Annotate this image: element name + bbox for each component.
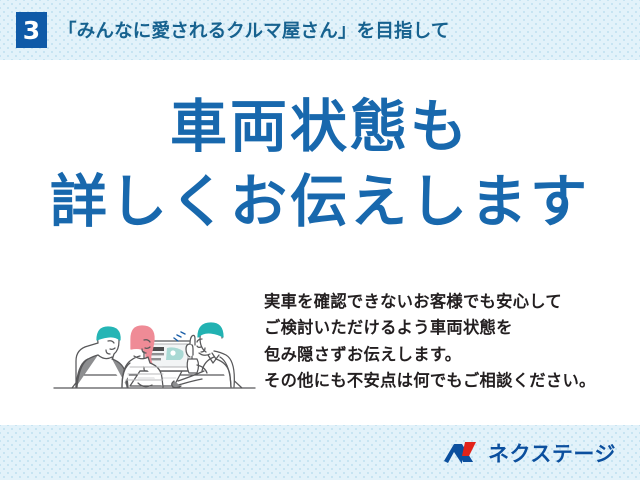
- nexstage-n-mark-icon: [443, 440, 481, 466]
- footer-band: ネクステージ: [0, 425, 640, 480]
- body-copy-line-1: 実車を確認できないお客様でも安心して: [264, 289, 630, 315]
- content-card: 車両状態も 詳しくお伝えします: [0, 60, 640, 425]
- headline: 車両状態も 詳しくお伝えします: [0, 60, 640, 237]
- lower-section: 実車を確認できないお客様でも安心して ご検討いただけるよう車両状態を 包み隠さず…: [0, 275, 640, 425]
- headline-line-1: 車両状態も: [0, 60, 640, 161]
- slide-root: 3 「みんなに愛されるクルマ屋さん」を目指して 車両状態も 詳しくお伝えします: [0, 0, 640, 480]
- body-copy-line-4: その他にも不安点は何でもご相談ください。: [264, 368, 630, 394]
- section-number-badge: 3: [16, 12, 47, 48]
- consultation-illustration: [52, 283, 257, 403]
- headline-line-2: 詳しくお伝えします: [0, 161, 640, 236]
- body-copy-line-2: ご検討いただけるよう車両状態を: [264, 315, 630, 341]
- brand-logo-text: ネクステージ: [488, 438, 616, 468]
- body-copy: 実車を確認できないお客様でも安心して ご検討いただけるよう車両状態を 包み隠さず…: [264, 289, 630, 395]
- header-band: 3 「みんなに愛されるクルマ屋さん」を目指して: [0, 0, 640, 60]
- header-title: 「みんなに愛されるクルマ屋さん」を目指して: [58, 17, 450, 43]
- brand-logo: ネクステージ: [443, 438, 616, 468]
- consultation-illustration-svg: [52, 283, 257, 403]
- body-copy-line-3: 包み隠さずお伝えします。: [264, 342, 630, 368]
